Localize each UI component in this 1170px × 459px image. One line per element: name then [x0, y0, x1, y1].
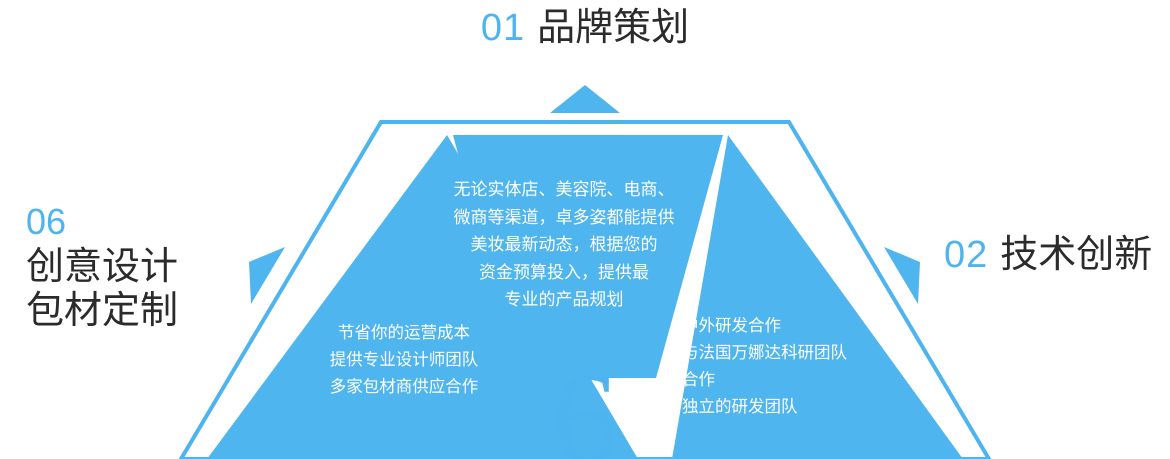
- arrow-up-icon: [550, 85, 620, 113]
- left-panel-text: 节省你的运营成本 提供专业设计师团队 多家包材商供应合作: [294, 320, 514, 401]
- label-left-line1: 创意设计: [26, 245, 178, 289]
- label-left-line2: 包材定制: [26, 289, 178, 333]
- label-top: 01品牌策划: [0, 6, 1170, 51]
- right-panel-text: 中外研发合作 与法国万娜达科研团队 合作 独立的研发团队: [682, 313, 912, 421]
- label-top-number: 01: [481, 7, 525, 49]
- infographic-canvas: 6 无论实体店、美容院、电商、 微商等渠道，卓多姿都能提供 美妆最新动态，根据您…: [0, 0, 1170, 459]
- label-right-title: 技术创新: [1000, 234, 1152, 276]
- center-panel-text: 无论实体店、美容院、电商、 微商等渠道，卓多姿都能提供 美妆最新动态，根据您的 …: [418, 176, 710, 314]
- label-top-title: 品牌策划: [537, 7, 689, 49]
- step-count-badge: 6: [0, 352, 1170, 459]
- label-right-number: 02: [944, 234, 988, 276]
- label-left: 06 创意设计 包材定制: [26, 200, 178, 334]
- label-right: 02技术创新: [944, 233, 1152, 278]
- arrow-up-left-icon: [884, 247, 920, 304]
- label-left-number: 06: [26, 200, 178, 244]
